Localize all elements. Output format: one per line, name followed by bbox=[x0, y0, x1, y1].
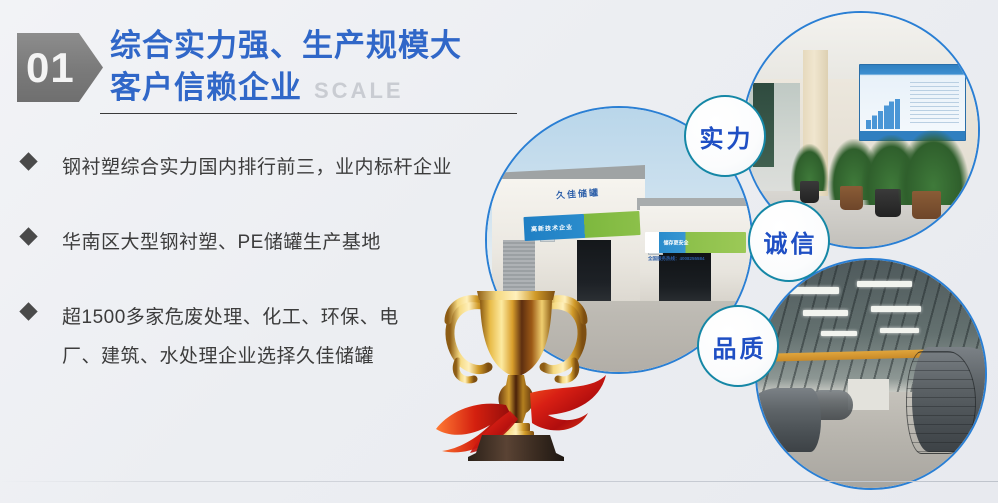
factory-banner-right-text: 储存更安全 bbox=[663, 239, 688, 246]
skylight bbox=[803, 310, 849, 316]
skylight bbox=[871, 306, 921, 312]
info-board-text-lines bbox=[910, 82, 958, 125]
heading-block: 综合实力强、生产规模大 客户信赖企业SCALE bbox=[110, 26, 530, 111]
heading-line-1: 综合实力强、生产规模大 bbox=[110, 26, 530, 66]
heading-divider bbox=[100, 113, 517, 114]
section-number-badge: 01 bbox=[17, 33, 103, 102]
diamond-bullet-icon bbox=[19, 227, 37, 245]
far-wall bbox=[848, 379, 889, 411]
factory-hotline-text: 全国服务热线：4008255584 bbox=[648, 256, 705, 262]
plant-pot bbox=[912, 191, 940, 219]
skylight bbox=[789, 287, 839, 294]
plant-pot bbox=[875, 189, 901, 217]
keyword-badge-quality: 品质 bbox=[697, 305, 779, 387]
factory-banner-right: 储存更安全 bbox=[645, 232, 745, 253]
info-board-chart bbox=[866, 99, 904, 129]
bullet-text: 超1500多家危废处理、化工、环保、电 厂、建筑、水处理企业选择久佳储罐 bbox=[62, 298, 399, 376]
photo-workshop-tanks bbox=[755, 258, 987, 490]
bullet-text: 华南区大型钢衬塑、PE储罐生产基地 bbox=[62, 223, 381, 262]
trophy-rim bbox=[477, 291, 555, 300]
bullet-line-1: 钢衬塑综合实力国内排行前三，业内标杆企业 bbox=[62, 157, 452, 178]
tank-support-frame bbox=[906, 351, 976, 453]
bottom-divider bbox=[0, 481, 998, 482]
storage-tank bbox=[755, 388, 821, 452]
plant-pot bbox=[800, 181, 819, 202]
list-item: 钢衬塑综合实力国内排行前三，业内标杆企业 bbox=[22, 148, 492, 187]
skylight bbox=[857, 281, 912, 288]
skylight bbox=[880, 328, 919, 333]
bullet-line-1: 超1500多家危废处理、化工、环保、电 bbox=[62, 307, 399, 328]
plant-pot bbox=[840, 186, 863, 209]
promo-banner: 01 综合实力强、生产规模大 客户信赖企业SCALE 钢衬塑综合实力国内排行前三… bbox=[0, 0, 998, 503]
heading-line-2: 客户信赖企业 bbox=[110, 70, 302, 105]
workshop-photo-content bbox=[757, 260, 985, 488]
keyword-badge-integrity: 诚信 bbox=[748, 200, 830, 282]
factory-banner-left-text: 高新技术企业 bbox=[531, 221, 573, 232]
heading-line-2-wrap: 客户信赖企业SCALE bbox=[110, 68, 530, 111]
bullet-line-2: 厂、建筑、水处理企业选择久佳储罐 bbox=[62, 337, 399, 376]
trophy-base bbox=[468, 435, 564, 461]
skylight bbox=[821, 331, 857, 336]
diamond-bullet-icon bbox=[19, 302, 37, 320]
bullet-text: 钢衬塑综合实力国内排行前三，业内标杆企业 bbox=[62, 148, 452, 187]
diamond-bullet-icon bbox=[19, 152, 37, 170]
trophy-award-image bbox=[422, 243, 614, 461]
heading-english-label: SCALE bbox=[314, 78, 404, 103]
bullet-line-1: 华南区大型钢衬塑、PE储罐生产基地 bbox=[62, 232, 381, 253]
keyword-badge-strength: 实力 bbox=[684, 95, 766, 177]
